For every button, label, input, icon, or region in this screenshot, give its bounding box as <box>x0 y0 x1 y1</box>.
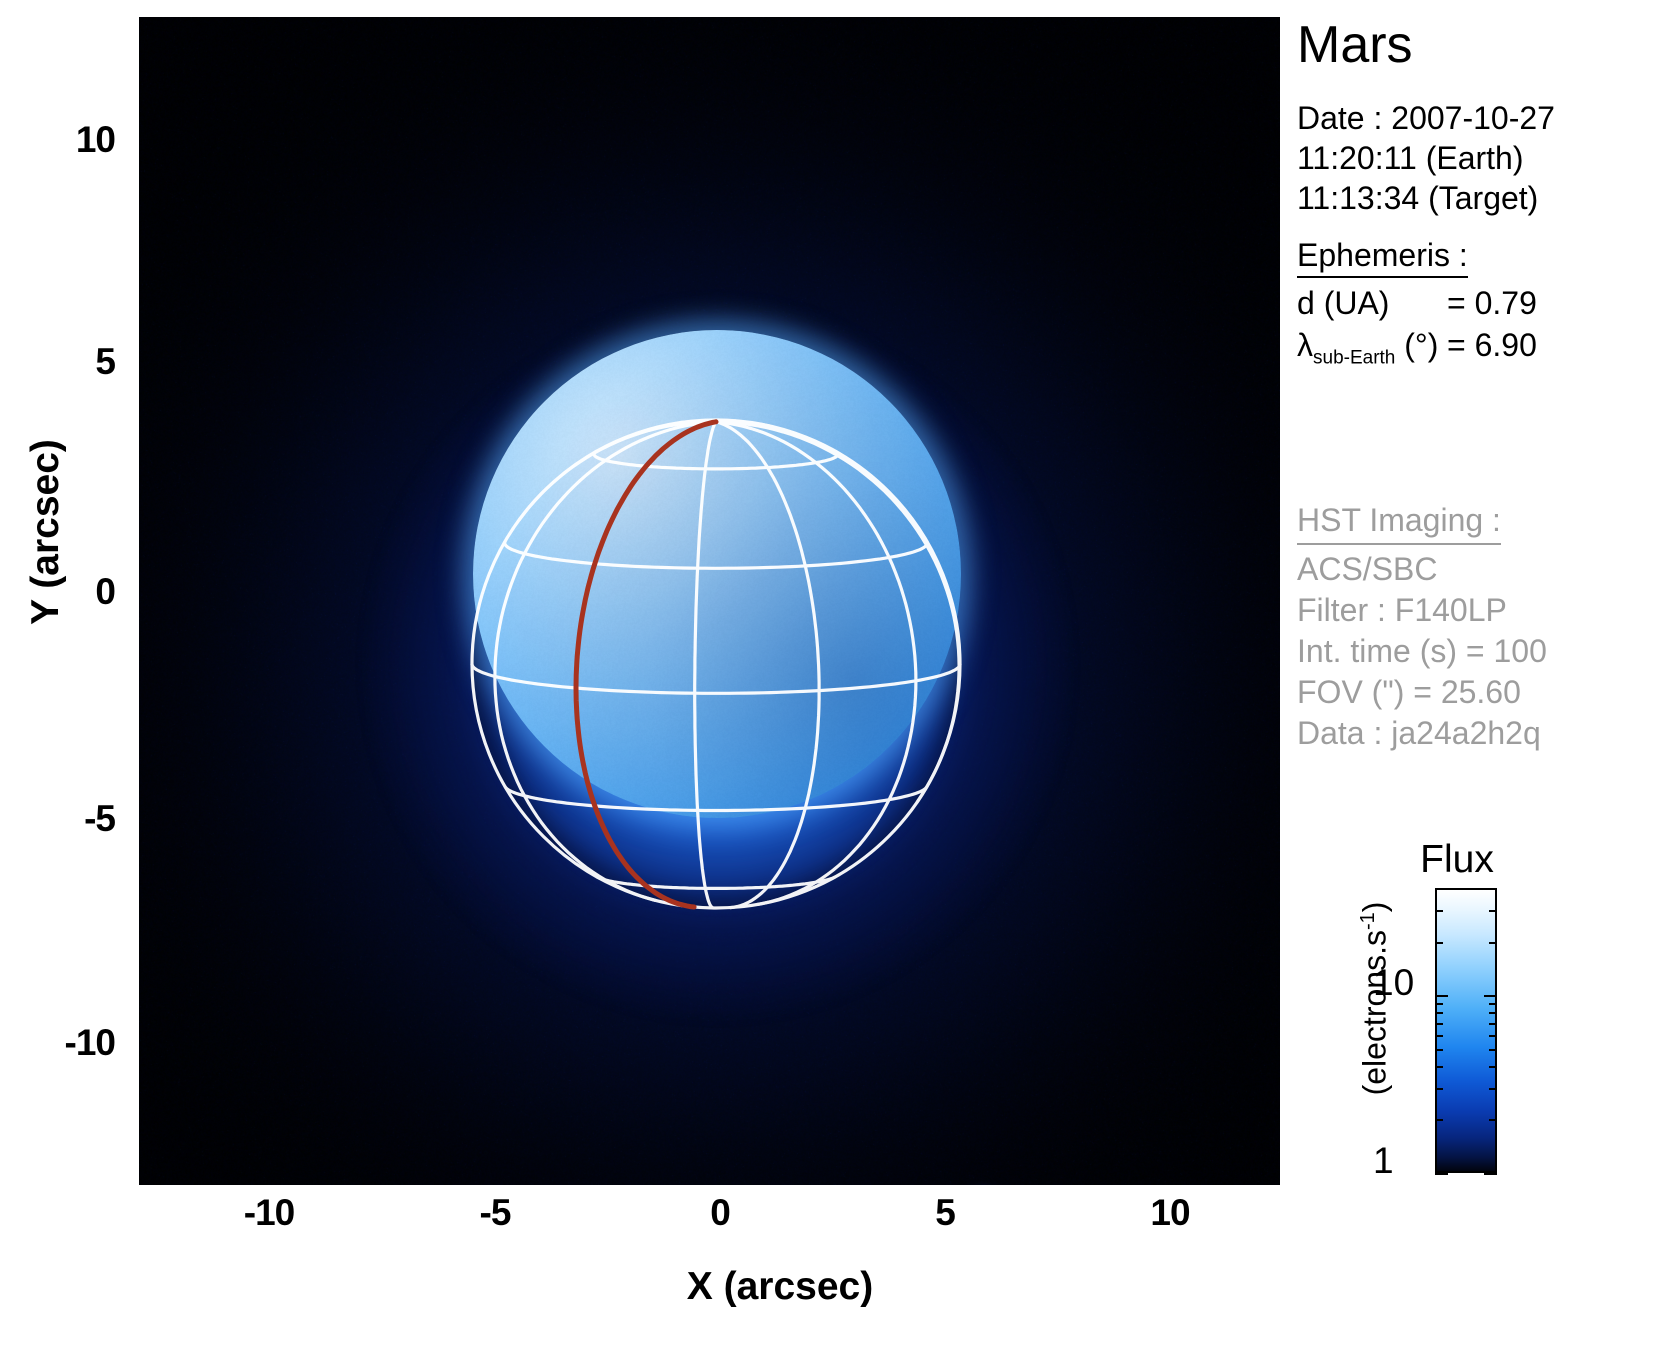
colorbar-tick <box>1435 1012 1443 1014</box>
colorbar-tick <box>1489 1023 1497 1025</box>
graticule-line <box>506 787 927 810</box>
colorbar-tick <box>1489 1088 1497 1090</box>
y-tick-label: 10 <box>5 119 115 161</box>
hst-filter: Filter : F140LP <box>1297 590 1547 631</box>
colorbar-tick <box>1435 1035 1443 1037</box>
y-tick-label: -10 <box>5 1022 115 1064</box>
y-axis-label: Y (arcsec) <box>24 402 68 662</box>
graticule-line <box>505 542 928 569</box>
colorbar-tick <box>1489 1119 1497 1121</box>
colorbar-tick <box>1484 995 1497 997</box>
colorbar-tick <box>1435 1066 1443 1068</box>
hst-integration-time: Int. time (s) = 100 <box>1297 631 1547 672</box>
colorbar-unit-exponent: -1 <box>1357 912 1379 930</box>
ephemeris-heading-text: Ephemeris : <box>1297 237 1468 278</box>
colorbar-tick <box>1435 1088 1443 1090</box>
hst-dataset-id: Data : ja24a2h2q <box>1297 713 1547 754</box>
colorbar-tick <box>1435 1049 1443 1051</box>
y-tick-label: -5 <box>5 798 115 840</box>
colorbar-gradient <box>1435 888 1497 1173</box>
ephemeris-lambda-value: = 6.90 <box>1447 324 1537 379</box>
colorbar-tick <box>1484 1173 1497 1175</box>
colorbar-tick <box>1435 995 1448 997</box>
ephemeris-lambda-unit: (°) <box>1404 327 1438 363</box>
observation-date-block: Date : 2007-10-27 11:20:11 (Earth) 11:13… <box>1297 98 1555 218</box>
info-sidebar: Mars Date : 2007-10-27 11:20:11 (Earth) … <box>1297 0 1677 1367</box>
colorbar-unit-text: (electrons.s <box>1357 930 1393 1095</box>
x-axis-label: X (arcsec) <box>570 1265 990 1309</box>
colorbar-tick <box>1489 888 1497 890</box>
colorbar-tick <box>1435 910 1443 912</box>
colorbar-tick <box>1435 1173 1448 1175</box>
colorbar-tick <box>1489 1003 1497 1005</box>
x-tick-label: 5 <box>875 1192 1015 1234</box>
y-tick-label: 5 <box>5 341 115 383</box>
ephemeris-row-distance: d (UA) = 0.79 <box>1297 282 1537 324</box>
ephemeris-row-lambda: λsub-Earth (°) = 6.90 <box>1297 324 1537 379</box>
colorbar-tick <box>1435 1119 1443 1121</box>
hst-camera: ACS/SBC <box>1297 549 1547 590</box>
ephemeris-heading: Ephemeris : <box>1297 235 1468 275</box>
observation-time-earth: 11:20:11 (Earth) <box>1297 138 1555 178</box>
lambda-symbol: λ <box>1297 327 1313 363</box>
page-title: Mars <box>1297 15 1413 75</box>
hst-imaging-block: HST Imaging : ACS/SBC Filter : F140LP In… <box>1297 500 1547 754</box>
hst-field-of-view: FOV (") = 25.60 <box>1297 672 1547 713</box>
x-tick-label: 10 <box>1100 1192 1240 1234</box>
graticule-line <box>472 665 960 694</box>
colorbar-tick <box>1489 942 1497 944</box>
observation-time-target: 11:13:34 (Target) <box>1297 178 1555 218</box>
colorbar-unit-label: (electrons.s-1) <box>1357 859 1394 1139</box>
ephemeris-distance-value: = 0.79 <box>1447 282 1537 324</box>
observation-date: Date : 2007-10-27 <box>1297 98 1555 138</box>
colorbar-tick <box>1435 1003 1443 1005</box>
ephemeris-distance-key: d (UA) <box>1297 282 1447 324</box>
graticule-line <box>695 422 716 908</box>
colorbar-unit-close: ) <box>1357 902 1393 913</box>
flux-colorbar <box>1435 888 1497 1173</box>
graticule-line <box>716 422 959 802</box>
x-tick-label: -5 <box>425 1192 565 1234</box>
ephemeris-rows: d (UA) = 0.79 λsub-Earth (°) = 6.90 <box>1297 282 1537 379</box>
colorbar-tick <box>1435 942 1443 944</box>
colorbar-tick <box>1489 1035 1497 1037</box>
colorbar-tick <box>1489 910 1497 912</box>
hst-imaging-heading: HST Imaging : <box>1297 500 1547 549</box>
colorbar-tick-low: 1 <box>1373 1140 1394 1182</box>
x-tick-label: 0 <box>650 1192 790 1234</box>
colorbar-tick <box>1489 1066 1497 1068</box>
hst-imaging-heading-text: HST Imaging : <box>1297 500 1501 545</box>
colorbar-tick <box>1489 1012 1497 1014</box>
ephemeris-lambda-subscript: sub-Earth <box>1313 347 1395 368</box>
colorbar-tick <box>1435 1023 1443 1025</box>
latitude-longitude-graticule <box>139 17 1280 1185</box>
graticule-line <box>716 422 819 908</box>
colorbar-tick <box>1435 888 1443 890</box>
image-plot-panel <box>139 17 1280 1185</box>
graticule-line <box>597 877 835 888</box>
ephemeris-lambda-key: λsub-Earth (°) <box>1297 324 1447 379</box>
colorbar-tick <box>1489 1049 1497 1051</box>
x-tick-label: -10 <box>199 1192 339 1234</box>
